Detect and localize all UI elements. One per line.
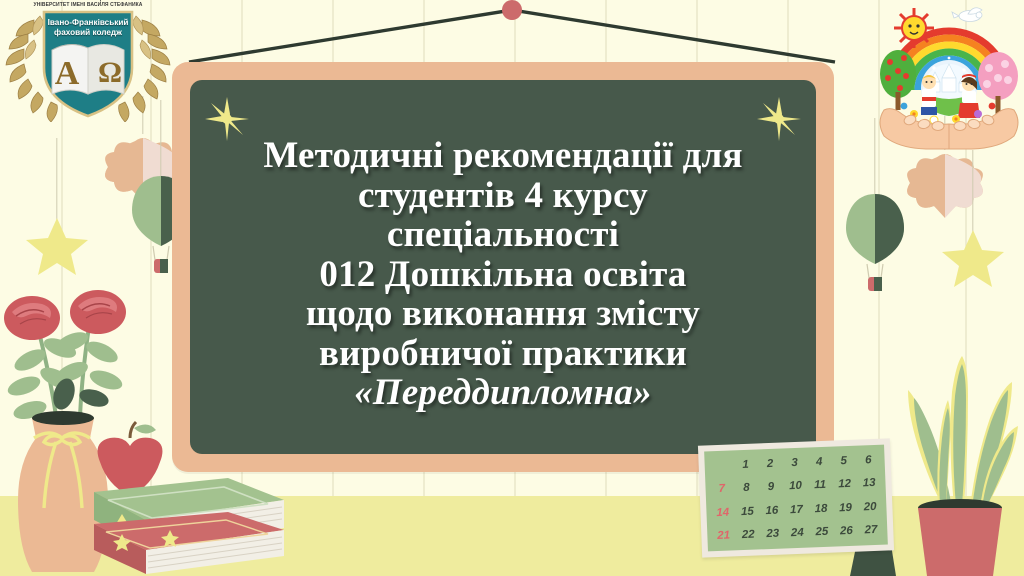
slide-title: Методичні рекомендації для студентів 4 к… <box>190 136 816 413</box>
alpha-letter: A <box>55 55 80 92</box>
title-line-3: спеціальності <box>208 215 798 255</box>
calendar-day[interactable]: 19 <box>839 502 852 514</box>
calendar-day[interactable]: 17 <box>790 504 803 516</box>
title-line-1: Методичні рекомендації для <box>208 136 798 176</box>
emblem-college-name: Івано-Франківський фаховий коледж <box>34 18 142 39</box>
calendar-card: 1 2 3 4 5 6 7 8 9 10 11 12 13 14 15 16 1… <box>698 438 894 557</box>
title-line-2: студентів 4 курсу <box>208 176 798 216</box>
calendar-day[interactable]: 9 <box>768 481 775 493</box>
nail-dot <box>502 0 522 20</box>
title-line-6: виробничої практики <box>208 334 798 374</box>
calendar-day[interactable]: 16 <box>765 504 778 516</box>
university-emblem: A Ω КАРПАТСЬКИЙ НАЦІОНАЛЬНИЙ УНІВЕРСИТЕТ… <box>4 0 172 122</box>
calendar-day[interactable]: 8 <box>743 482 750 494</box>
snake-plant-decoration <box>894 330 1024 576</box>
title-line-4: 012 Дошкільна освіта <box>208 255 798 295</box>
omega-letter: Ω <box>98 56 122 89</box>
apple-icon <box>98 422 163 496</box>
calendar-day[interactable]: 3 <box>791 457 798 469</box>
calendar-day[interactable]: 2 <box>767 458 774 470</box>
calendar-day[interactable]: 24 <box>791 527 804 539</box>
calendar-day[interactable]: 4 <box>816 456 823 468</box>
emblem-college-line-2: фаховий коледж <box>54 28 122 37</box>
chalkboard-surface: Методичні рекомендації для студентів 4 к… <box>190 80 816 454</box>
calendar-day[interactable]: 14 <box>716 506 729 518</box>
calendar-day[interactable]: 5 <box>840 455 847 467</box>
mobile-star-right <box>938 150 1008 280</box>
calendar-day[interactable]: 10 <box>789 480 802 492</box>
desk-calendar: 1 2 3 4 5 6 7 8 9 10 11 12 13 14 15 16 1… <box>690 436 900 576</box>
calendar-day[interactable]: 11 <box>814 479 826 491</box>
calendar-day[interactable]: 21 <box>717 530 730 542</box>
calendar-day[interactable]: 27 <box>864 524 877 536</box>
slide-canvas: Методичні рекомендації для студентів 4 к… <box>0 0 1024 576</box>
emblem-college-line-1: Івано-Франківський <box>48 18 129 27</box>
calendar-day[interactable]: 18 <box>814 503 827 515</box>
calendar-day[interactable]: 20 <box>863 501 876 513</box>
calendar-day[interactable]: 26 <box>840 525 853 537</box>
calendar-day[interactable]: 6 <box>865 454 872 466</box>
hands-holding-globe-illustration <box>874 2 1024 152</box>
emblem-name-line-2: УНІВЕРСИТЕТ ІМЕНІ ВАСИЛЯ СТЕФАНИКА <box>18 3 158 8</box>
calendar-day[interactable]: 15 <box>741 505 754 517</box>
emblem-university-name: КАРПАТСЬКИЙ НАЦІОНАЛЬНИЙ УНІВЕРСИТЕТ ІМЕ… <box>18 0 158 8</box>
calendar-day[interactable]: 7 <box>718 483 725 495</box>
calendar-day[interactable]: 22 <box>742 529 755 541</box>
calendar-day[interactable]: 23 <box>766 528 779 540</box>
calendar-day[interactable]: 1 <box>742 459 749 471</box>
book-stack-with-apple <box>78 404 346 576</box>
calendar-day[interactable]: 13 <box>863 477 876 489</box>
mobile-star-left <box>22 138 92 268</box>
calendar-grid: 1 2 3 4 5 6 7 8 9 10 11 12 13 14 15 16 1… <box>704 445 888 552</box>
calendar-day[interactable]: 12 <box>838 478 851 490</box>
calendar-day[interactable]: 25 <box>815 526 828 538</box>
title-line-5: щодо виконання змісту <box>208 294 798 334</box>
